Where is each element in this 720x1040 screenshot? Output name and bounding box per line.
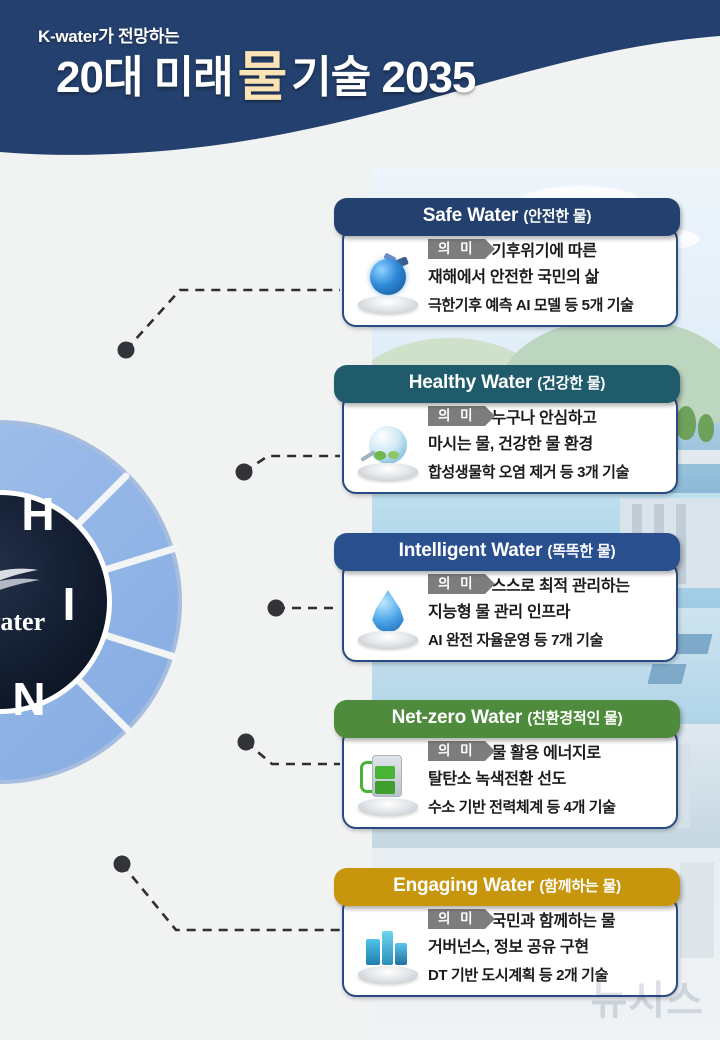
- card-title-en: Intelligent Water: [399, 540, 543, 561]
- card-title-ko: (친환경적인 물): [527, 710, 622, 727]
- header-kicker: K-water가 전망하는: [38, 22, 720, 47]
- title-pre: 20대 미래: [56, 53, 233, 102]
- page-title: 20대 미래물기술 2035: [56, 49, 720, 106]
- card-title-en: Net-zero Water: [392, 707, 523, 728]
- title-highlight: 물: [233, 47, 292, 107]
- meaning-badge: 의 미: [428, 406, 485, 426]
- meaning-line-1: 기후위기에 따른: [492, 237, 597, 261]
- title-post: 기술 2035: [291, 53, 475, 102]
- card-text-safe-water: 의 미 기후위기에 따른 재해에서 안전한 국민의 삶 극한기후 예측 AI 모…: [426, 237, 668, 315]
- card-title-ko: (똑똑한 물): [547, 543, 615, 560]
- card-title-ko: (건강한 물): [537, 375, 605, 392]
- watermark: 뉴시스: [591, 968, 704, 1026]
- meaning-line-1: 누구나 안심하고: [492, 404, 597, 428]
- smart-city-icon: [350, 905, 426, 987]
- card-safe-water[interactable]: Safe Water (안전한 물) 의 미 기후위기에 따른 재해에서 안전한…: [334, 198, 686, 327]
- meaning-line-1: 스스로 최적 관리하는: [492, 572, 630, 596]
- card-text-netzero-water: 의 미 물 활용 에너지로 탈탄소 녹색전환 선도 수소 기반 전력체계 등 4…: [426, 739, 668, 817]
- segment-label-h: H: [21, 488, 54, 540]
- tech-line: AI 완전 자율운영 등 7개 기술: [428, 629, 668, 650]
- meaning-badge: 의 미: [428, 741, 485, 761]
- meaning-line-2: 탈탄소 녹색전환 선도: [428, 765, 668, 789]
- card-text-healthy-water: 의 미 누구나 안심하고 마시는 물, 건강한 물 환경 합성생물학 오염 제거…: [426, 404, 668, 482]
- meaning-line-1: 물 활용 에너지로: [492, 739, 601, 763]
- meaning-line-2: 마시는 물, 건강한 물 환경: [428, 430, 668, 454]
- card-body-safe-water: 의 미 기후위기에 따른 재해에서 안전한 국민의 삶 극한기후 예측 AI 모…: [342, 226, 678, 327]
- card-header-netzero-water[interactable]: Net-zero Water (친환경적인 물): [334, 700, 680, 738]
- card-body-intelligent-water: 의 미 스스로 최적 관리하는 지능형 물 관리 인프라 AI 완전 자율운영 …: [342, 561, 678, 662]
- card-body-healthy-water: 의 미 누구나 안심하고 마시는 물, 건강한 물 환경 합성생물학 오염 제거…: [342, 393, 678, 494]
- meaning-badge: 의 미: [428, 909, 485, 929]
- card-body-netzero-water: 의 미 물 활용 에너지로 탈탄소 녹색전환 선도 수소 기반 전력체계 등 4…: [342, 728, 678, 829]
- hydrogen-battery-icon: [350, 737, 426, 819]
- card-header-intelligent-water[interactable]: Intelligent Water (똑똑한 물): [334, 533, 680, 571]
- card-title-ko: (안전한 물): [523, 208, 591, 225]
- meaning-line-1: 국민과 함께하는 물: [492, 907, 616, 931]
- card-title-ko: (함께하는 물): [539, 878, 621, 895]
- tech-line: 극한기후 예측 AI 모델 등 5개 기술: [428, 294, 668, 315]
- card-title-en: Healthy Water: [409, 372, 532, 393]
- card-intelligent-water[interactable]: Intelligent Water (똑똑한 물) 의 미 스스로 최적 관리하…: [334, 533, 686, 662]
- card-healthy-water[interactable]: Healthy Water (건강한 물) 의 미 누구나 안심하고 마시는 물…: [334, 365, 686, 494]
- meaning-line-2: 재해에서 안전한 국민의 삶: [428, 263, 668, 287]
- shine-wheel: K water S H I N E: [0, 352, 262, 852]
- card-title-en: Engaging Water: [393, 875, 534, 896]
- lab-robot-arm-icon: [350, 402, 426, 484]
- meaning-badge: 의 미: [428, 239, 485, 259]
- poster-header: K-water가 전망하는 20대 미래물기술 2035: [0, 0, 720, 175]
- card-netzero-water[interactable]: Net-zero Water (친환경적인 물) 의 미 물 활용 에너지로 탈…: [334, 700, 686, 829]
- meaning-line-2: 지능형 물 관리 인프라: [428, 598, 668, 622]
- card-header-healthy-water[interactable]: Healthy Water (건강한 물): [334, 365, 680, 403]
- water-drop-icon: [350, 570, 426, 652]
- segment-label-i: I: [63, 578, 76, 630]
- card-header-engaging-water[interactable]: Engaging Water (함께하는 물): [334, 868, 680, 906]
- card-text-intelligent-water: 의 미 스스로 최적 관리하는 지능형 물 관리 인프라 AI 완전 자율운영 …: [426, 572, 668, 650]
- meaning-line-2: 거버넌스, 정보 공유 구현: [428, 933, 668, 957]
- tech-line: 합성생물학 오염 제거 등 3개 기술: [428, 461, 668, 482]
- segment-label-n: N: [12, 673, 45, 725]
- wheel-logo-text: K water: [0, 607, 45, 636]
- meaning-badge: 의 미: [428, 574, 485, 594]
- infographic-poster: K-water가 전망하는 20대 미래물기술 2035: [0, 0, 720, 1040]
- card-header-safe-water[interactable]: Safe Water (안전한 물): [334, 198, 680, 236]
- card-title-en: Safe Water: [423, 205, 519, 226]
- satellite-globe-icon: [350, 235, 426, 317]
- tech-line: 수소 기반 전력체계 등 4개 기술: [428, 796, 668, 817]
